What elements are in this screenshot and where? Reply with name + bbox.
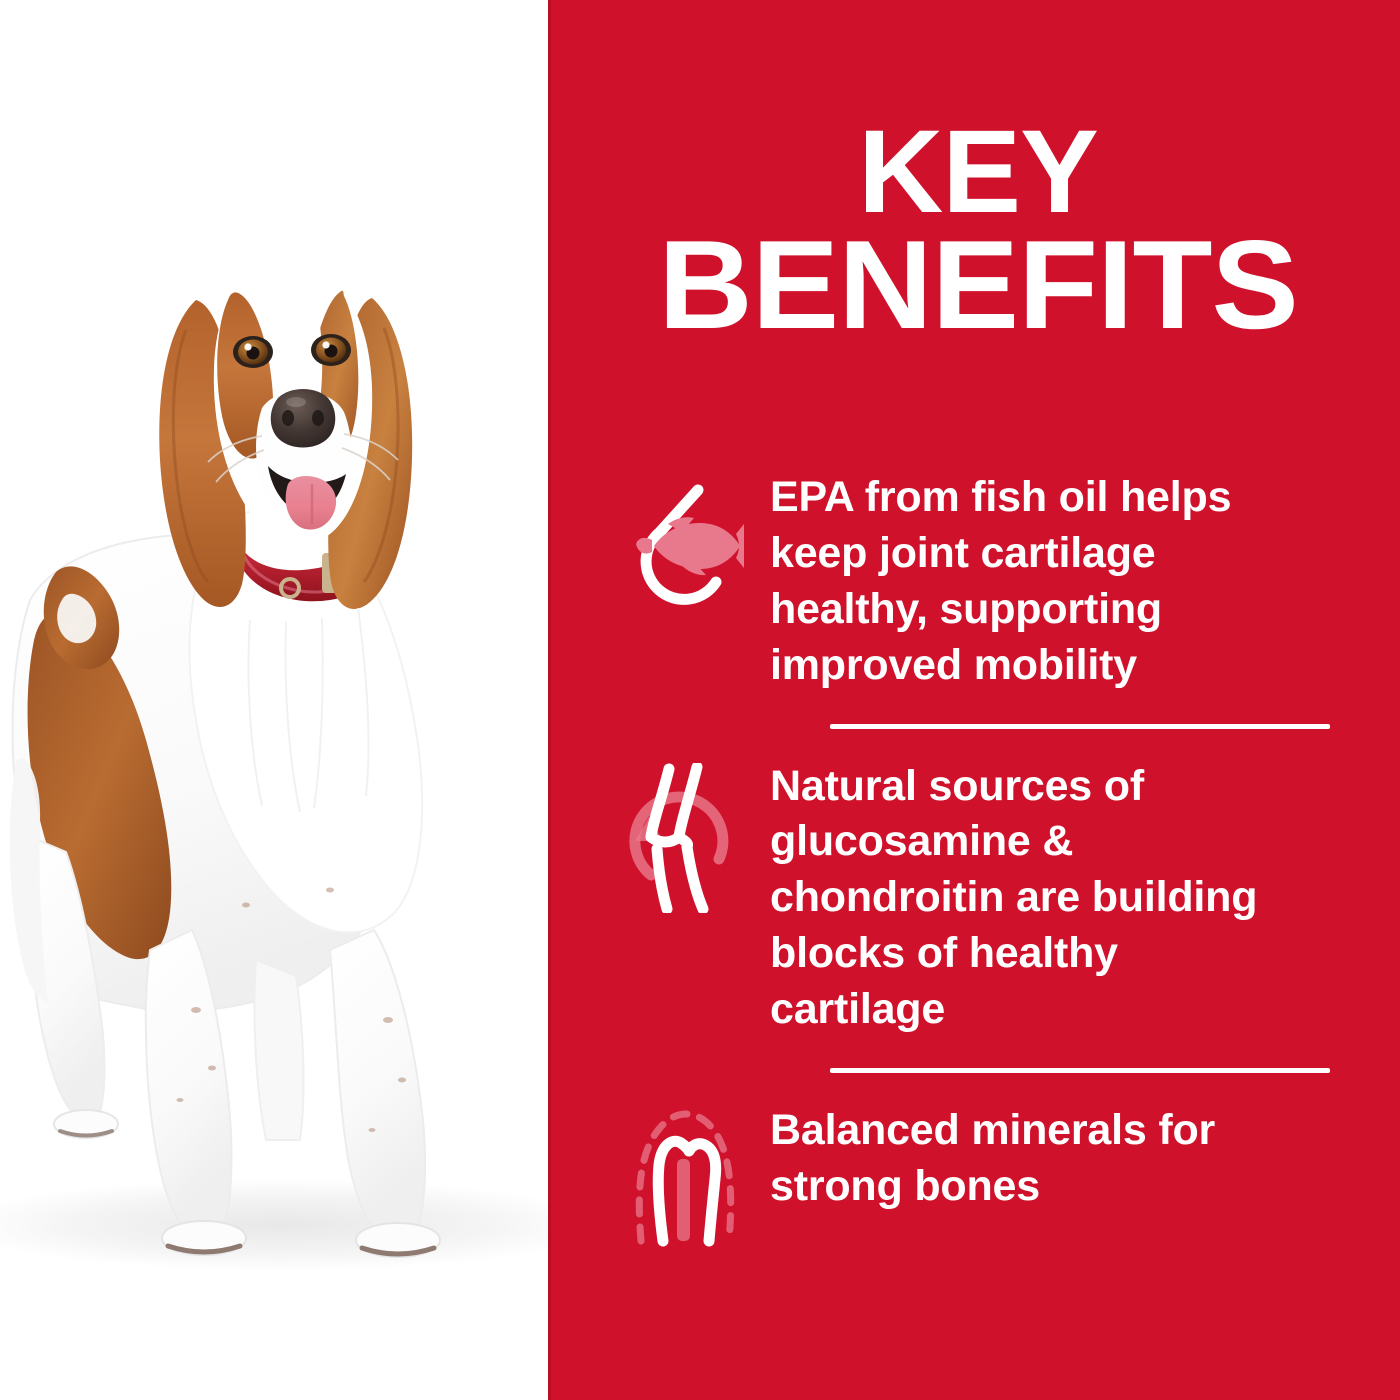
- joint-mobility-icon: [620, 759, 748, 899]
- headline-line-1: KEY: [578, 118, 1378, 227]
- benefit-text-bones: Balanced minerals for strong bones: [748, 1103, 1275, 1215]
- dog-nose: [271, 389, 336, 448]
- key-benefits-panel: KEY BENEFITS: [548, 0, 1400, 1400]
- product-photo-panel: [0, 0, 548, 1400]
- benefit-item-fish-oil: EPA from fish oil helps keep joint carti…: [548, 470, 1400, 694]
- dog-nose-highlight: [286, 397, 306, 407]
- page-title: KEY BENEFITS: [578, 118, 1378, 342]
- headline-line-2: BENEFITS: [562, 227, 1394, 343]
- benefit-item-bones: Balanced minerals for strong bones: [548, 1103, 1400, 1243]
- fish-oil-droplet-icon: [620, 470, 748, 610]
- benefit-text-joint: Natural sources of glucosamine & chondro…: [748, 759, 1275, 1038]
- key-benefits-marketing-card: KEY BENEFITS: [0, 0, 1400, 1400]
- benefit-divider-1: [830, 724, 1330, 729]
- strong-bone-icon: [620, 1103, 748, 1243]
- benefit-list: EPA from fish oil helps keep joint carti…: [548, 470, 1400, 1243]
- dog-rear-leg-right: [254, 960, 303, 1140]
- dog-photo: [0, 0, 548, 1400]
- dog-eye-right: [311, 334, 351, 366]
- benefit-item-joint: Natural sources of glucosamine & chondro…: [548, 759, 1400, 1038]
- dog-front-leg-right: [330, 930, 425, 1226]
- benefit-divider-2: [830, 1068, 1330, 1073]
- benefit-text-fish-oil: EPA from fish oil helps keep joint carti…: [748, 470, 1275, 694]
- dog-nostril-left: [282, 410, 294, 426]
- dog-eye-left: [233, 336, 273, 368]
- dog-nostril-right: [312, 410, 324, 426]
